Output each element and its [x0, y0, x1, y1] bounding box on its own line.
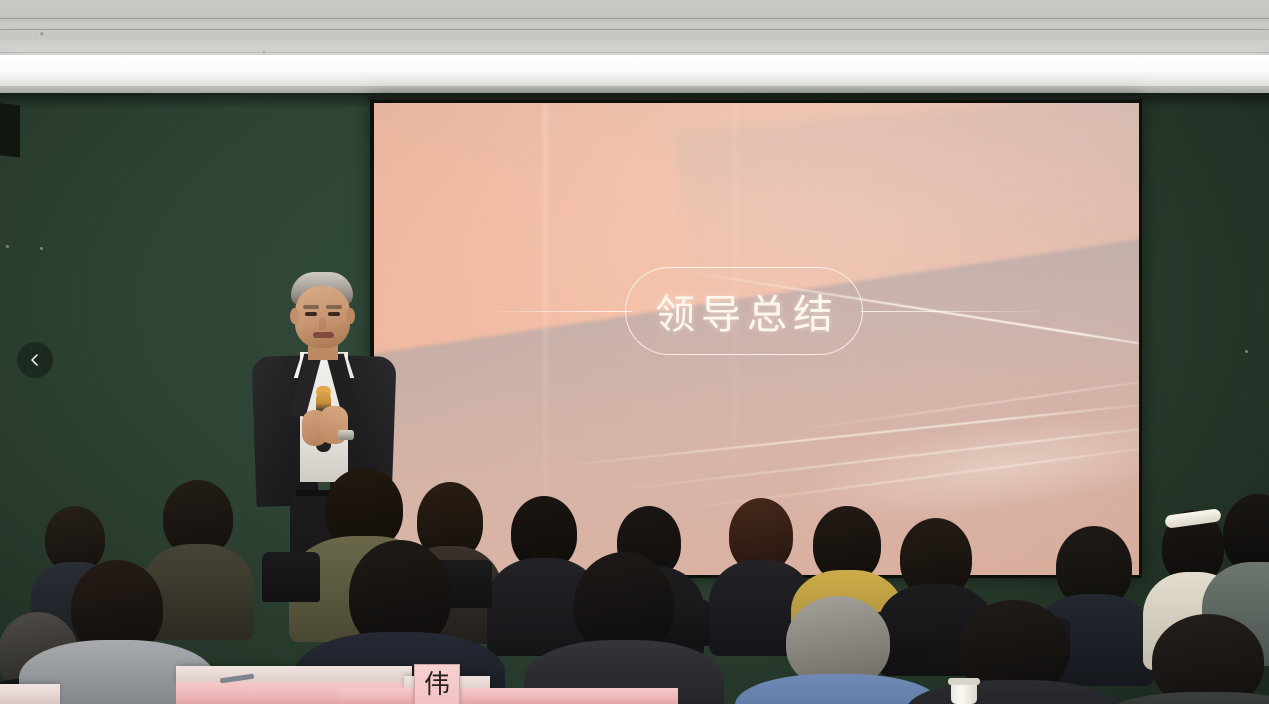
torso	[735, 674, 941, 704]
presenter-ear-right	[346, 308, 355, 324]
torso	[906, 680, 1122, 704]
slide-title-pill: 领导总结	[625, 267, 863, 355]
presenter-ear-left	[290, 308, 299, 324]
slide-title-text: 领导总结	[649, 282, 839, 340]
conference-table	[0, 684, 60, 704]
name-placard: 伟	[414, 664, 460, 704]
prev-image-button[interactable]	[17, 342, 53, 378]
ceiling-screw	[262, 50, 266, 54]
audience-member	[44, 560, 190, 704]
ceiling-seam-2	[0, 29, 1269, 30]
wall-speck	[6, 245, 9, 248]
table-skirt	[498, 688, 678, 704]
ceiling-light-fixture	[0, 55, 1269, 89]
chair-back	[262, 552, 320, 602]
presenter-eye-right	[328, 312, 340, 316]
wall-speck	[40, 247, 43, 250]
presenter-brow-left	[303, 305, 319, 309]
presenter-brow-right	[326, 305, 342, 309]
presenter-eye-left	[305, 312, 317, 316]
audience-member	[758, 596, 918, 704]
presenter-mouth	[313, 332, 334, 338]
ceiling-screw	[40, 32, 44, 36]
head	[1152, 614, 1264, 704]
presenter-head	[295, 286, 350, 348]
wall-panel	[0, 103, 20, 158]
presenter-wristwatch	[338, 430, 354, 440]
slide-rule-left	[484, 311, 632, 312]
wall-speck	[1245, 350, 1248, 353]
placard-character: 伟	[424, 672, 450, 698]
paper-cup	[951, 682, 977, 704]
chevron-left-icon	[28, 353, 42, 367]
audience-member	[548, 552, 700, 704]
ceiling-seam-1	[0, 18, 1269, 19]
torso	[1098, 692, 1269, 704]
ceiling-seam-3	[0, 52, 1269, 53]
slide-rule-right	[861, 311, 1046, 312]
presenter-nose	[319, 318, 326, 330]
cup-lid	[948, 678, 980, 685]
photo-viewer-stage: 领导总结	[0, 0, 1269, 704]
audience-member	[1118, 614, 1269, 704]
